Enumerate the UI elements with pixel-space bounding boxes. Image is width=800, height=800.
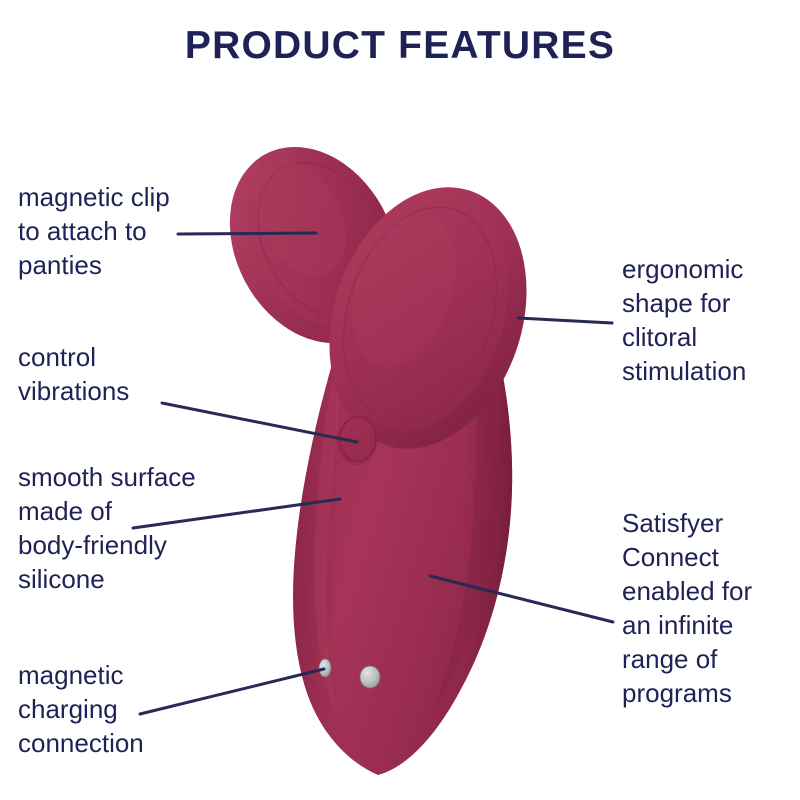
product-features-infographic: PRODUCT FEATURES	[0, 0, 800, 800]
callout-smooth-surface: smooth surface made of body-friendly sil…	[18, 460, 258, 596]
callout-ergonomic-shape: ergonomic shape for clitoral stimulation	[622, 252, 797, 388]
charging-contact-small	[319, 659, 331, 677]
callout-control-vibrations: control vibrations	[18, 340, 218, 408]
callout-magnetic-charging: magnetic charging connection	[18, 658, 233, 760]
charging-contact-large	[360, 666, 380, 688]
callout-magnetic-clip: magnetic clip to attach to panties	[18, 180, 228, 282]
control-button[interactable]	[337, 417, 377, 465]
callout-satisfyer-connect: Satisfyer Connect enabled for an infinit…	[622, 506, 797, 710]
